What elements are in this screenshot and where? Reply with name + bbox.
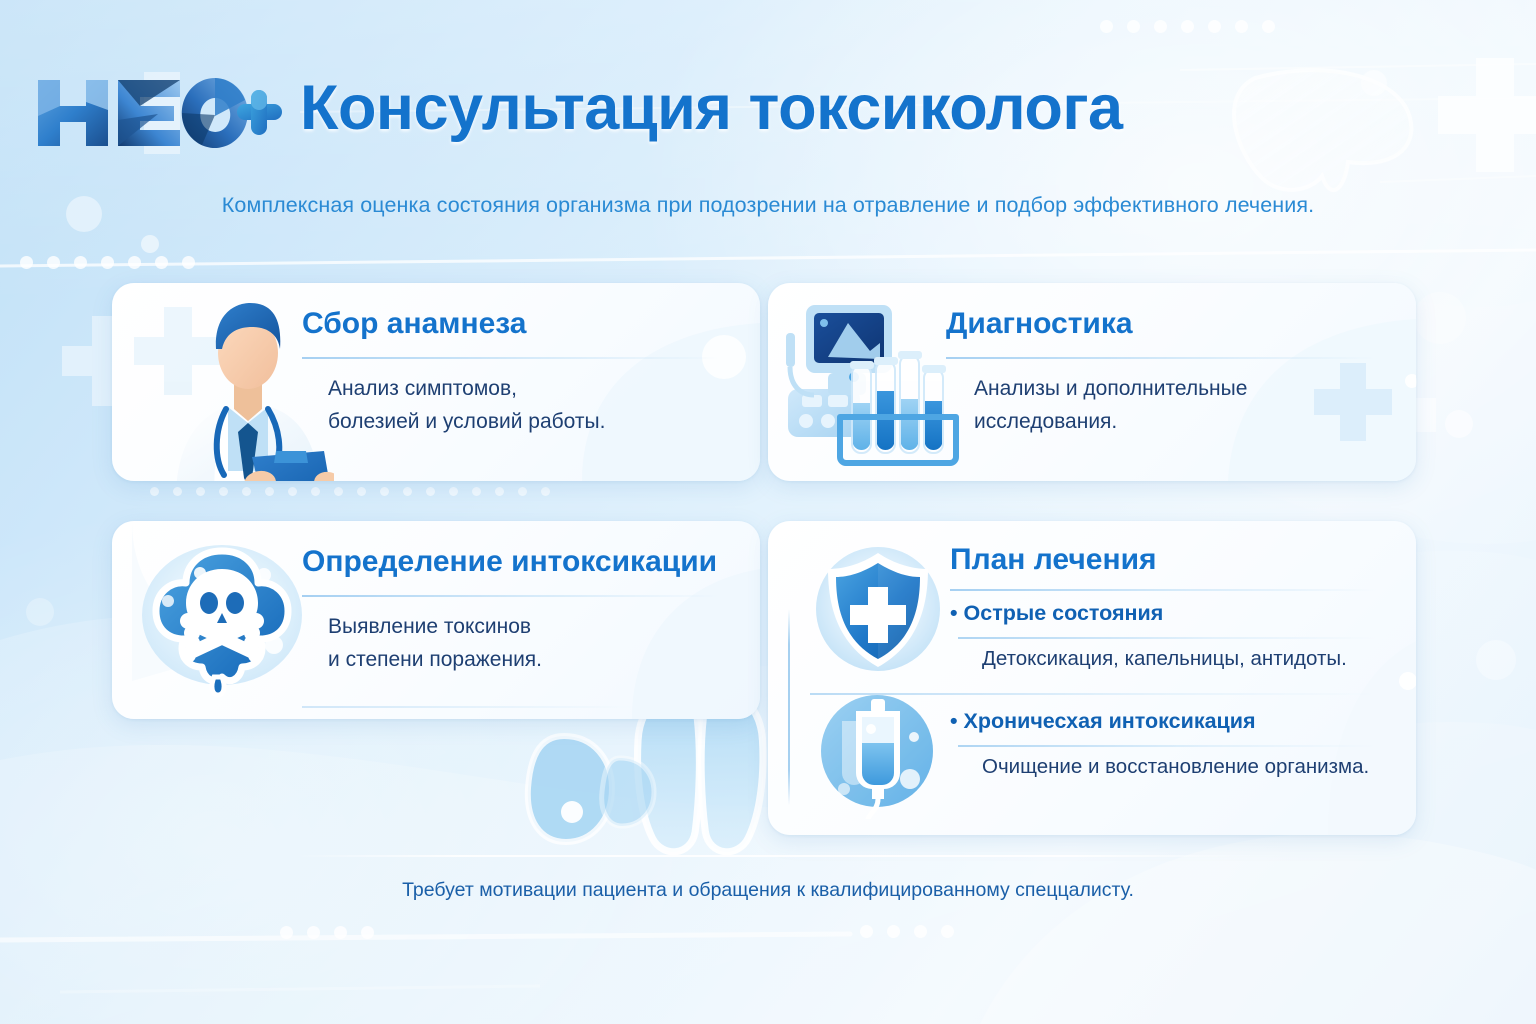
shield-cross-icon [810,543,946,679]
card-title-intoxication: Определение интоксикации [302,545,717,579]
card-title-treatment: План лечения [950,543,1157,577]
bullet-text-acute: Детоксикация, капельницы, антидоты. [982,647,1347,671]
bullet-section-divider [810,693,1376,695]
timeline-connector [788,609,790,805]
card-title-anamnesis: Сбор анамнеза [302,307,526,341]
dot-row-bottom-left [280,926,374,939]
page-header: Консультация токсиколога Комплексная оце… [0,0,1536,250]
bullet-divider [958,637,1376,639]
neo-plus-logo-icon [32,72,282,154]
bullet-divider [958,745,1376,747]
dot-row-upper-left [20,256,195,269]
brand-logo [32,72,282,154]
card-treatment-plan[interactable]: План лечения • Острые состояния Детоксик… [768,521,1416,835]
card-anamnesis[interactable]: Сбор анамнеза Анализ симптомов, болезией… [112,283,760,481]
card-divider [302,357,720,359]
card-title-diagnostics: Диагностика [946,307,1133,341]
card-body-diagnostics: Анализы и дополнительные исследования. [974,372,1247,438]
card-intoxication[interactable]: Определение интоксикации Выявление токси… [112,521,760,719]
card-body-intoxication: Выявление токсинов и степени поражения. [328,610,542,676]
iv-drip-icon [816,693,938,819]
bullet-heading-chronic: • Хроничесхая интоксикация [950,709,1256,734]
footer-note: Требует мотивации пациента и обращения к… [0,879,1536,902]
bullet-marker: • [950,601,958,625]
card-body-anamnesis: Анализ симптомов, болезией и условий раб… [328,372,605,438]
card-divider [950,589,1376,591]
bullet-heading-text: Хроничесхая интоксикация [964,709,1256,733]
card-divider-bottom [302,706,632,708]
bullet-marker: • [950,709,958,733]
bullet-heading-acute: • Острые состояния [950,601,1163,626]
bullet-text-chronic: Очищение и восстановление организма. [982,755,1369,779]
poison-skull-icon [138,541,306,699]
bullet-heading-text: Острые состояния [964,601,1164,625]
dot-row-bottom [860,925,954,938]
kidney-icon [528,736,654,842]
page-title: Консультация токсиколога [300,72,1123,144]
dot-row-card1-underline [150,487,550,496]
card-diagnostics[interactable]: Диагностика Анализы и дополнительные исс… [768,283,1416,481]
page-subtitle: Комплексная оценка состояния организма п… [0,193,1536,218]
card-divider [302,595,720,597]
footer-divider [292,855,1244,857]
ultrasound-test-tubes-icon [784,299,964,469]
card-divider [946,357,1376,359]
